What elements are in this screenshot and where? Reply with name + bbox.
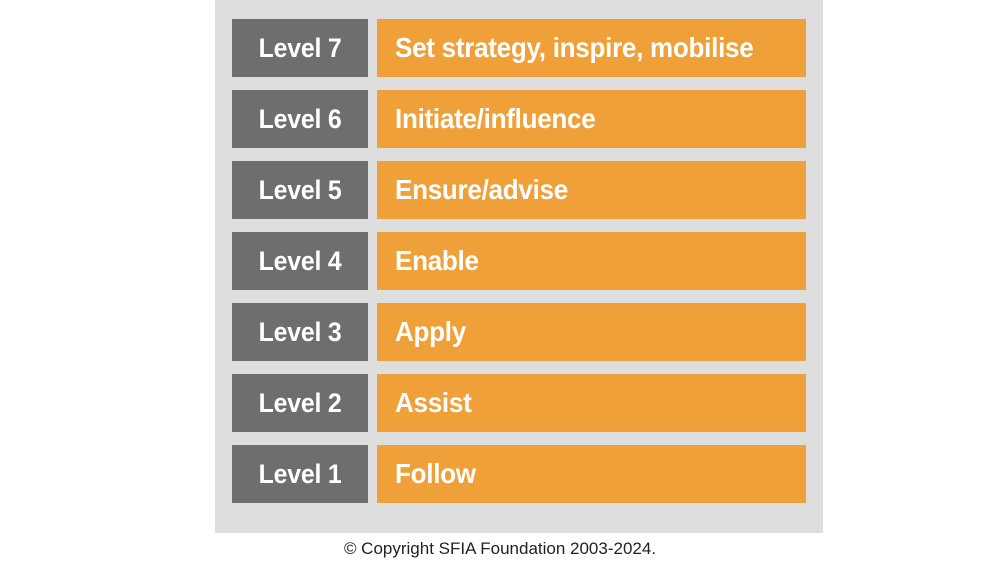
levels-panel: Level 7 Set strategy, inspire, mobilise … <box>215 0 823 533</box>
level-row: Level 3 Apply <box>232 303 806 361</box>
row-gap <box>368 161 377 219</box>
level-badge-label: Level 3 <box>259 319 342 346</box>
level-bar-7: Set strategy, inspire, mobilise <box>377 19 806 77</box>
level-bar-1: Follow <box>377 445 806 503</box>
level-badge-4: Level 4 <box>232 232 368 290</box>
level-bar-label: Follow <box>395 460 476 488</box>
level-bar-2: Assist <box>377 374 806 432</box>
level-badge-1: Level 1 <box>232 445 368 503</box>
level-badge-label: Level 7 <box>259 35 342 62</box>
level-badge-label: Level 2 <box>259 390 342 417</box>
level-bar-label: Enable <box>395 247 479 275</box>
level-badge-label: Level 1 <box>259 461 342 488</box>
row-gap <box>368 90 377 148</box>
level-bar-label: Initiate/influence <box>395 105 595 133</box>
row-gap <box>368 374 377 432</box>
level-badge-6: Level 6 <box>232 90 368 148</box>
level-bar-6: Initiate/influence <box>377 90 806 148</box>
copyright-text: © Copyright SFIA Foundation 2003-2024. <box>344 540 656 557</box>
row-gap <box>368 303 377 361</box>
level-bar-label: Assist <box>395 389 471 417</box>
row-gap <box>368 445 377 503</box>
page-root: Level 7 Set strategy, inspire, mobilise … <box>0 0 1000 563</box>
level-bar-5: Ensure/advise <box>377 161 806 219</box>
level-badge-3: Level 3 <box>232 303 368 361</box>
copyright-footer: © Copyright SFIA Foundation 2003-2024. <box>0 533 1000 563</box>
row-gap <box>368 232 377 290</box>
level-badge-label: Level 5 <box>259 177 342 204</box>
level-badge-7: Level 7 <box>232 19 368 77</box>
level-badge-2: Level 2 <box>232 374 368 432</box>
level-row: Level 6 Initiate/influence <box>232 90 806 148</box>
level-row: Level 1 Follow <box>232 445 806 503</box>
level-row: Level 5 Ensure/advise <box>232 161 806 219</box>
level-bar-label: Apply <box>395 318 466 346</box>
level-badge-label: Level 6 <box>259 106 342 133</box>
level-row: Level 2 Assist <box>232 374 806 432</box>
row-gap <box>368 19 377 77</box>
level-row: Level 7 Set strategy, inspire, mobilise <box>232 19 806 77</box>
level-bar-label: Set strategy, inspire, mobilise <box>395 34 753 62</box>
level-badge-label: Level 4 <box>259 248 342 275</box>
level-bar-3: Apply <box>377 303 806 361</box>
level-bar-label: Ensure/advise <box>395 176 568 204</box>
level-row: Level 4 Enable <box>232 232 806 290</box>
level-bar-4: Enable <box>377 232 806 290</box>
level-badge-5: Level 5 <box>232 161 368 219</box>
